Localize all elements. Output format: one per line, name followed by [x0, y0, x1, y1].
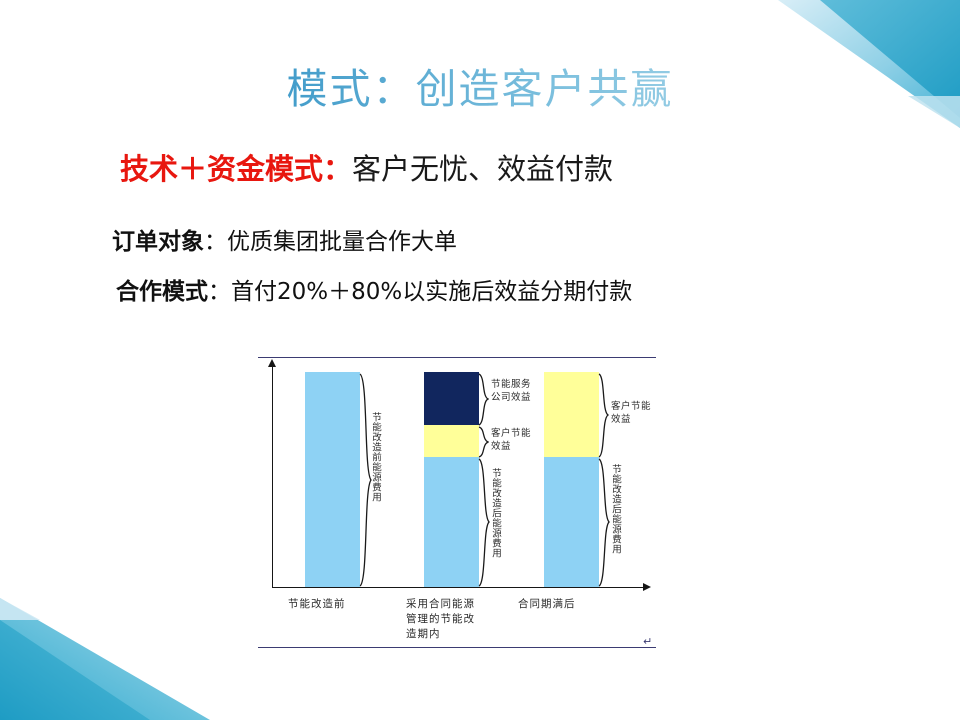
- x-axis-label-2: 采用合同能源管理的节能改造期内: [406, 597, 484, 643]
- x-axis-label-1: 节能改造前: [288, 597, 380, 612]
- chart-top-rule: [258, 357, 656, 358]
- chart-bottom-rule: [258, 647, 656, 648]
- bar2-segment-energy-cost-after: [424, 457, 479, 587]
- highlight-emphasis: 技术＋资金模式：: [120, 152, 352, 186]
- x-axis-label-3: 合同期满后: [518, 597, 598, 612]
- bullet-order-target: 订单对象：优质集团批量合作大单: [112, 222, 457, 256]
- x-axis-line: [272, 587, 645, 588]
- bar-column-1: [305, 372, 360, 587]
- emc-stacked-bar-chart: ↵ 节能改造前能源费用 节能服务公司效益 客户节能效益: [258, 352, 658, 652]
- y-axis-line: [272, 366, 273, 588]
- bar-column-2: [424, 372, 479, 587]
- highlight-rest: 客户无忧、效益付款: [352, 152, 613, 186]
- bullet-mode-value: 首付20%＋80%以实施后效益分期付款: [231, 279, 632, 305]
- bullet-mode-label: 合作模式: [116, 279, 208, 305]
- bar-column-3: [544, 372, 599, 587]
- x-axis-arrow-icon: [643, 583, 651, 591]
- brace-bar2-energy-after: [478, 458, 490, 587]
- brace-bar3-customer: [598, 373, 609, 458]
- slide-title: 模式：创造客户共赢: [0, 55, 960, 115]
- bar2-annotation-energy-cost-after: 节能改造后能源费用: [490, 468, 500, 573]
- brace-bar3-energy-after: [598, 458, 610, 587]
- decoration-bottom-left: [0, 590, 210, 720]
- bar2-segment-esco-benefit: [424, 372, 479, 425]
- bar3-segment-customer-benefit: [544, 372, 599, 457]
- bullet-cooperation-mode: 合作模式：首付20%＋80%以实施后效益分期付款: [116, 272, 632, 306]
- slide-canvas: 模式：创造客户共赢 技术＋资金模式：客户无忧、效益付款 订单对象：优质集团批量合…: [0, 0, 960, 720]
- paragraph-mark: ↵: [643, 635, 652, 648]
- bar1-segment-energy-cost-before: [305, 372, 360, 587]
- bullet-mode-separator: ：: [208, 279, 231, 305]
- brace-bar2-esco: [478, 373, 489, 426]
- bullet-order-separator: ：: [204, 229, 227, 255]
- bar3-annotation-energy-cost-after: 节能改造后能源费用: [610, 464, 620, 569]
- bar3-segment-energy-cost-after: [544, 457, 599, 587]
- bar1-annotation-energy-cost-before: 节能改造前能源费用: [370, 412, 380, 552]
- bar2-annotation-esco-benefit: 节能服务公司效益: [491, 379, 535, 405]
- brace-bar2-customer: [478, 426, 489, 458]
- bullet-order-label: 订单对象: [112, 229, 204, 255]
- bar2-annotation-customer-benefit: 客户节能效益: [491, 428, 535, 454]
- bar3-annotation-customer-benefit: 客户节能效益: [611, 401, 655, 427]
- bullet-order-value: 优质集团批量合作大单: [227, 229, 457, 255]
- y-axis-arrow-icon: [268, 359, 276, 367]
- bar2-segment-customer-benefit: [424, 425, 479, 457]
- highlight-line: 技术＋资金模式：客户无忧、效益付款: [120, 146, 613, 188]
